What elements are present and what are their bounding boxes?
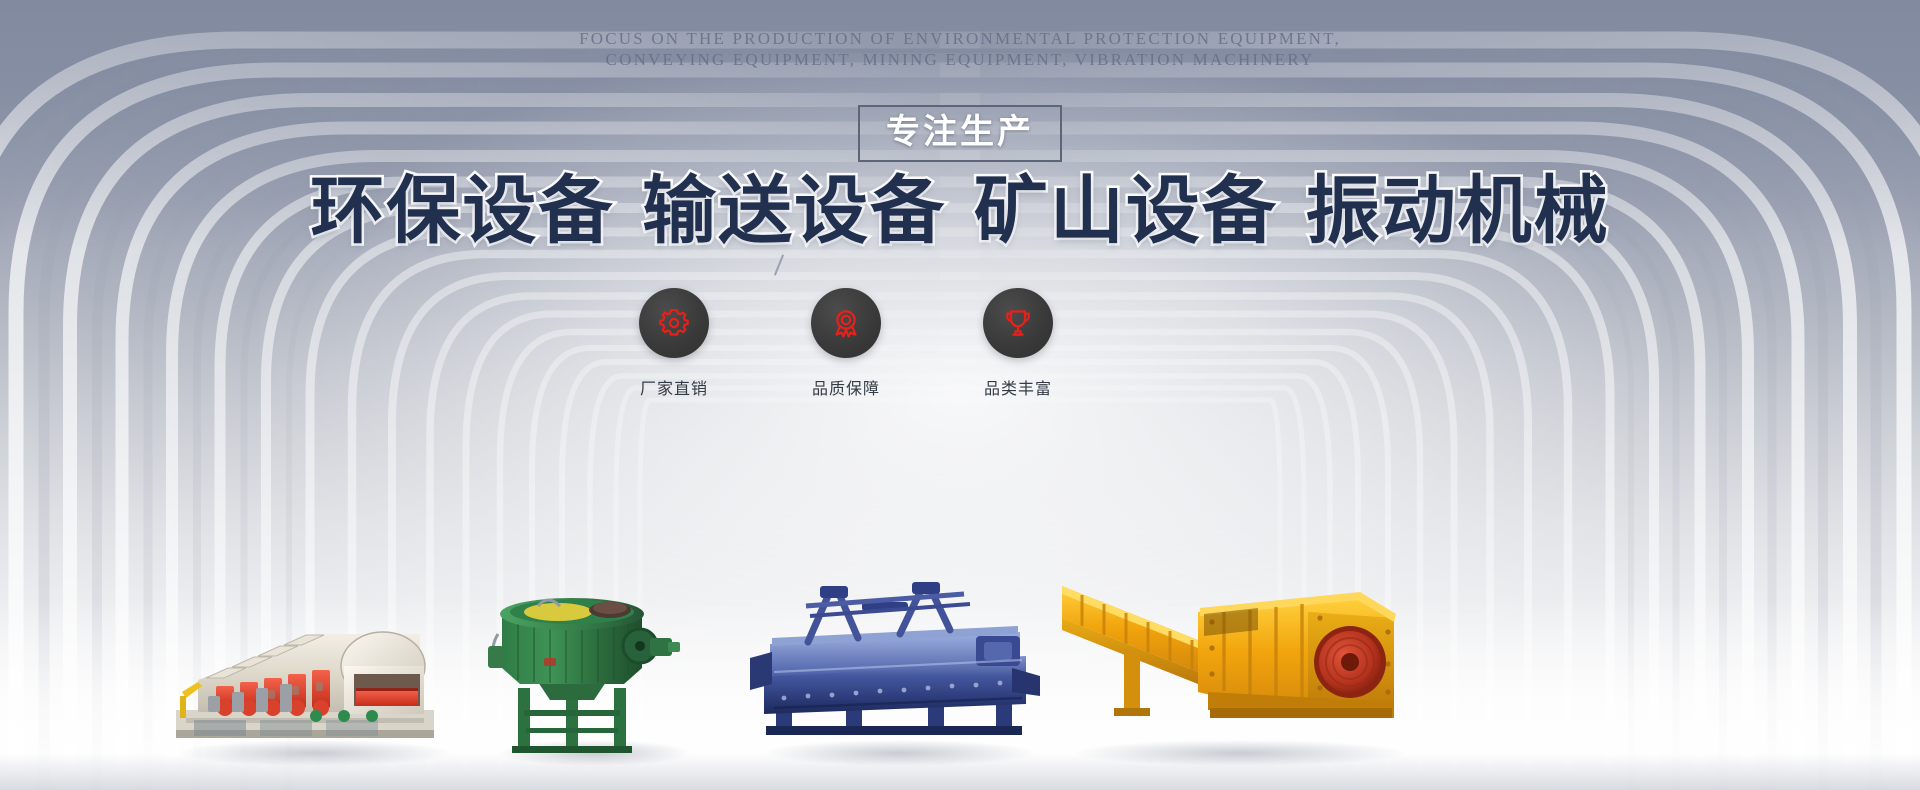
gear-icon xyxy=(656,305,692,341)
feature-badge-list: 厂家直销 品质保障 xyxy=(614,288,1078,399)
page-title: 环保设备 输送设备 矿山设备 振动机械 xyxy=(0,172,1920,252)
feature-item-factory-direct[interactable]: 厂家直销 xyxy=(614,288,734,399)
feature-label: 品类丰富 xyxy=(984,375,1052,399)
feature-label: 品质保障 xyxy=(812,375,880,399)
focus-badge: 专注生产 xyxy=(858,105,1062,162)
feature-label: 厂家直销 xyxy=(640,375,708,399)
english-strapline: FOCUS ON THE PRODUCTION OF ENVIRONMENTAL… xyxy=(0,28,1920,70)
feature-icon-circle xyxy=(639,288,709,358)
feature-item-rich-variety[interactable]: 品类丰富 xyxy=(958,288,1078,399)
trophy-icon xyxy=(1000,305,1036,341)
feature-item-quality-guarantee[interactable]: 品质保障 xyxy=(786,288,906,399)
feature-icon-circle xyxy=(811,288,881,358)
focus-badge-label: 专注生产 xyxy=(886,115,1034,149)
feature-icon-circle xyxy=(983,288,1053,358)
hero-banner: FOCUS ON THE PRODUCTION OF ENVIRONMENTAL… xyxy=(0,0,1920,790)
medal-icon xyxy=(828,305,864,341)
